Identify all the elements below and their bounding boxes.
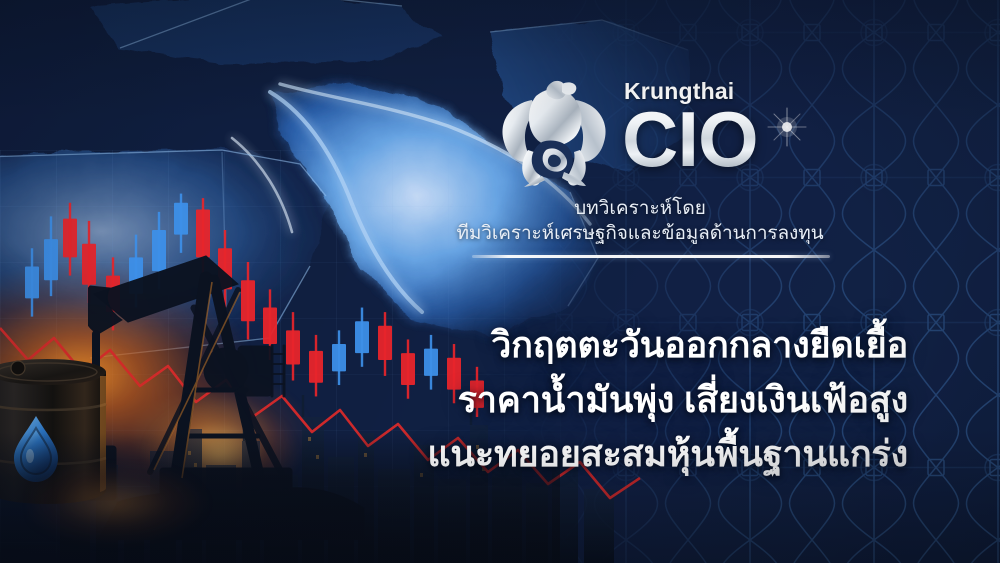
product-name: CIO bbox=[622, 100, 758, 178]
headline-block: วิกฤตตะวันออกกลางยืดเยื้อ ราคาน้ำมันพุ่ง… bbox=[348, 318, 908, 482]
headline-line-3: แนะทยอยสะสมหุ้นพื้นฐานแกร่ง bbox=[348, 427, 908, 482]
sparkle-glint-icon bbox=[764, 104, 810, 150]
brand-lockup: Krungthai CIO bbox=[498, 78, 838, 193]
headline-line-2: ราคาน้ำมันพุ่ง เสี่ยงเงินเฟ้อสูง bbox=[348, 373, 908, 428]
krungthai-garuda-bird-icon bbox=[498, 80, 610, 188]
subtitle-line-2: ทีมวิเคราะห์เศรษฐกิจและข้อมูลด้านการลงทุ… bbox=[430, 221, 850, 246]
subtitle-block: บทวิเคราะห์โดย ทีมวิเคราะห์เศรษฐกิจและข้… bbox=[430, 196, 850, 247]
divider bbox=[472, 255, 830, 258]
subtitle-line-1: บทวิเคราะห์โดย bbox=[574, 198, 706, 219]
promotional-banner: Krungthai CIO บทวิเคราะห์โดย ทีมวิเคราะห… bbox=[0, 0, 1000, 563]
ground-fire-reflection bbox=[30, 467, 330, 557]
headline-line-1: วิกฤตตะวันออกกลางยืดเยื้อ bbox=[348, 318, 908, 373]
